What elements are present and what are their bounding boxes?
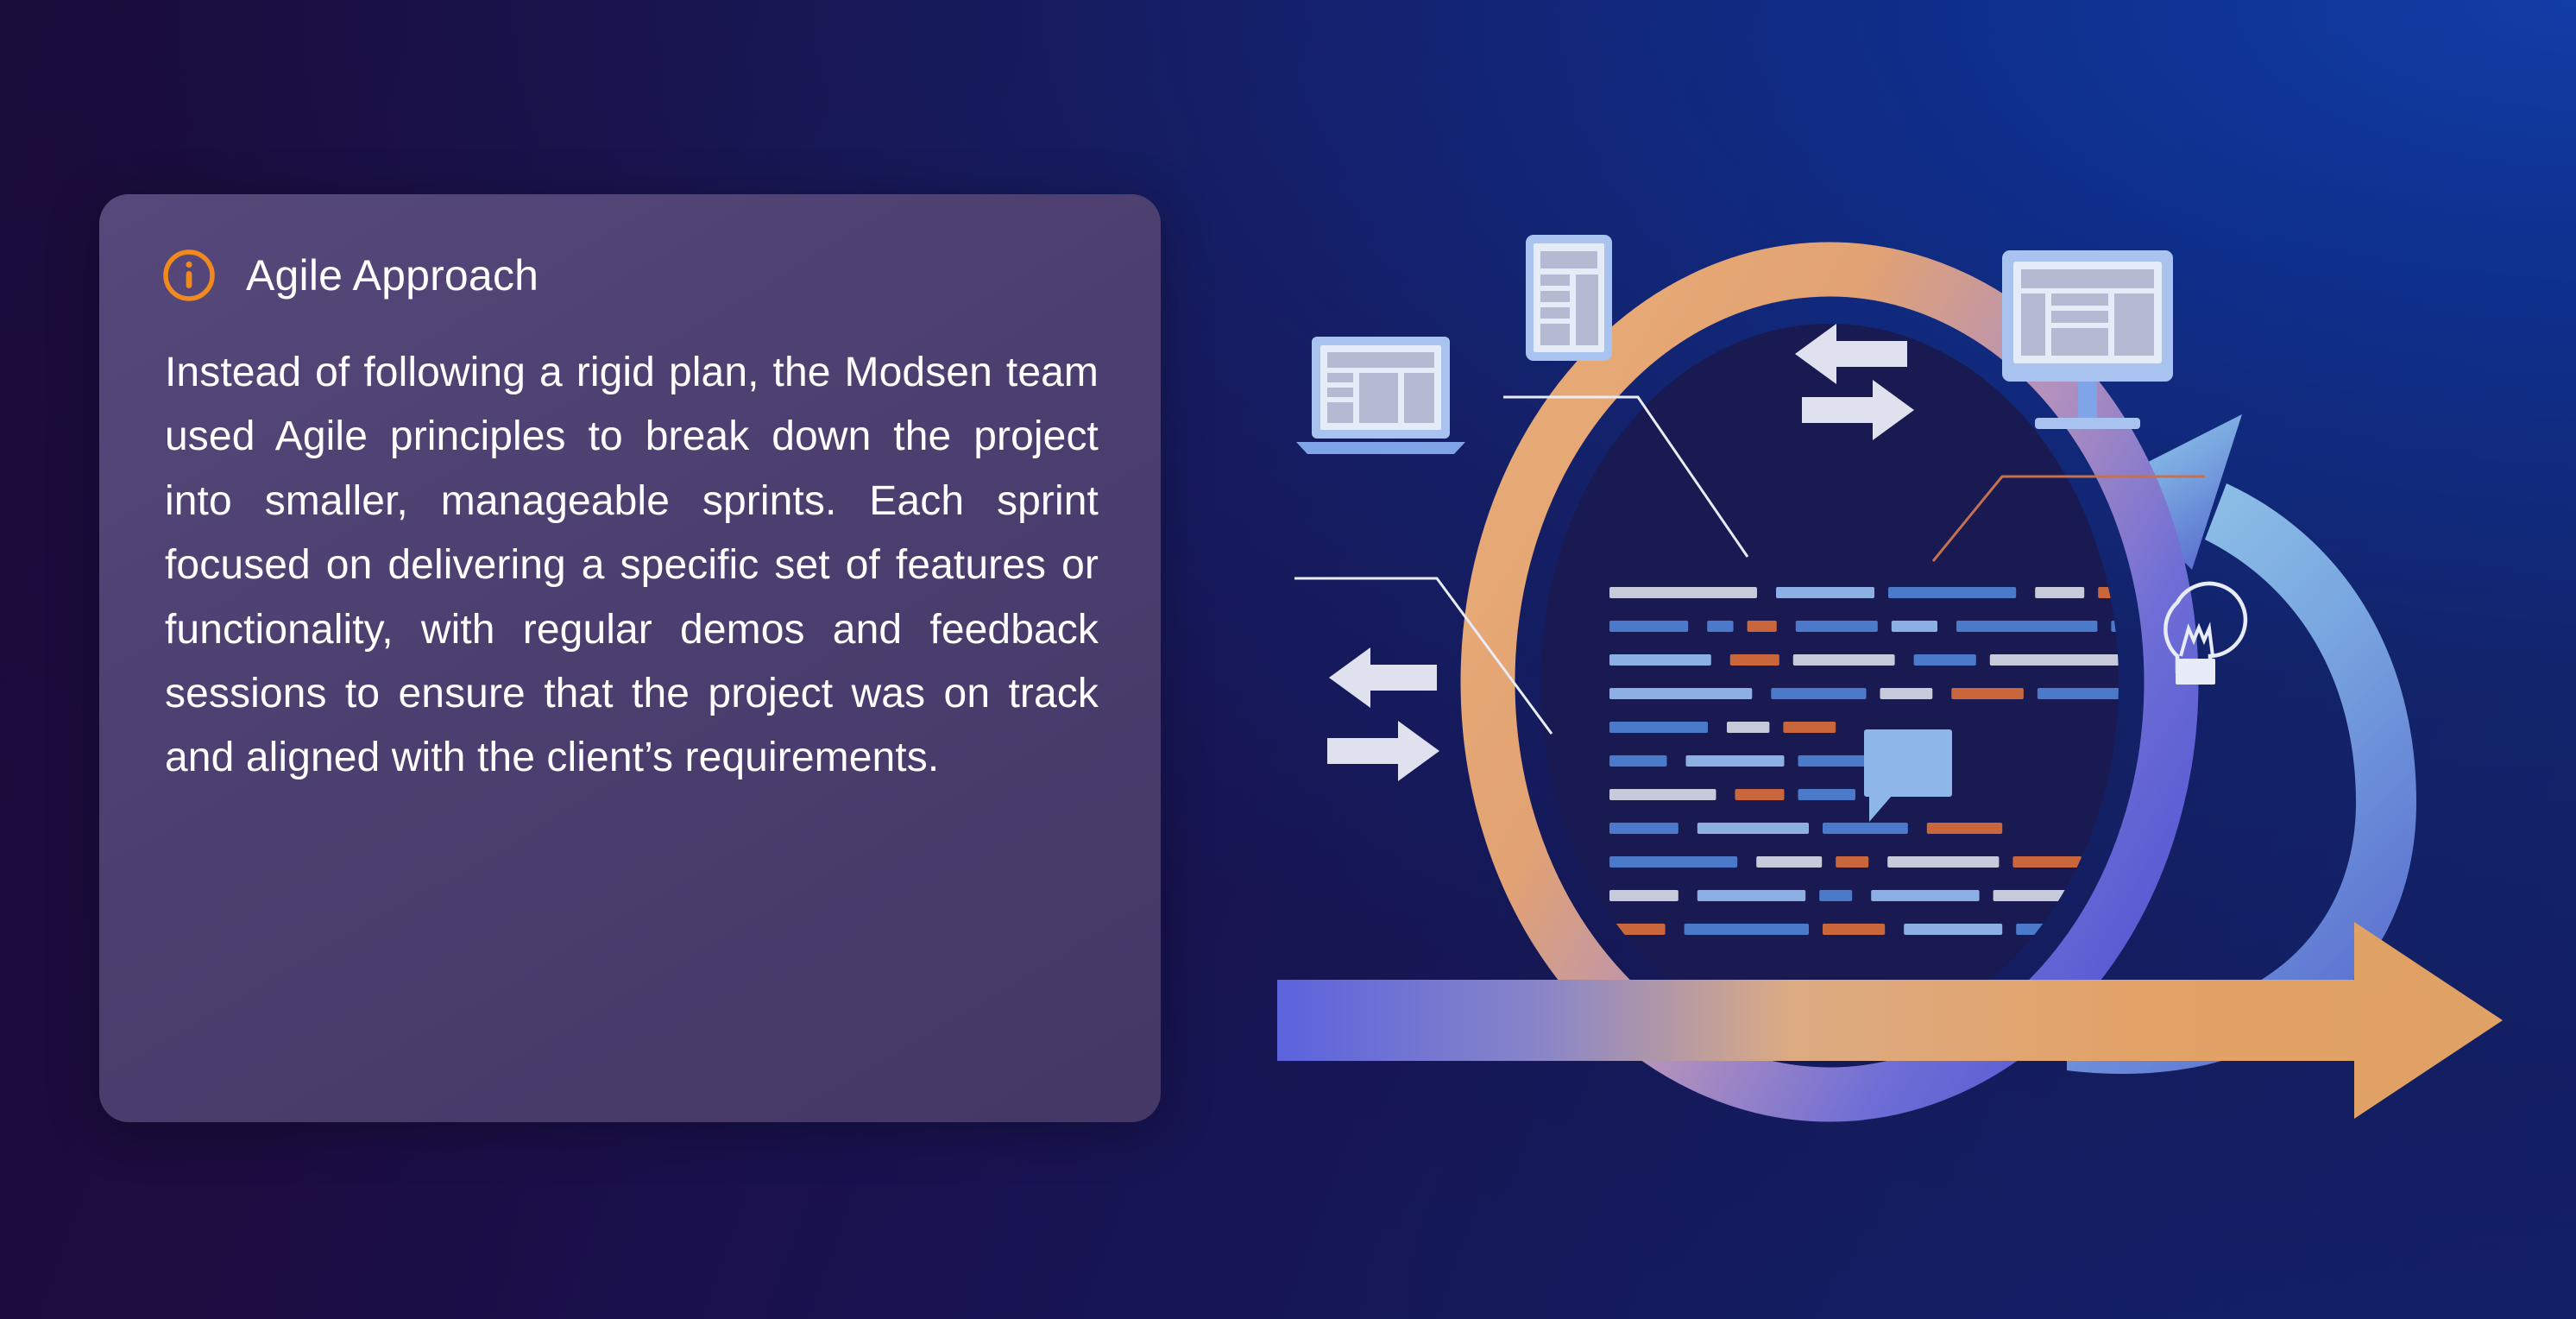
code-line-segment: [1990, 654, 2145, 666]
code-line-segment: [1796, 621, 1878, 632]
code-line-segment: [1776, 587, 1874, 598]
code-line-segment: [1798, 789, 1856, 800]
code-line-segment: [1727, 722, 1769, 733]
code-line-segment: [1823, 924, 1885, 935]
code-line-segment: [1888, 587, 2016, 598]
code-line-segment: [1609, 924, 1666, 935]
info-circle-icon: [161, 248, 217, 303]
code-line-segment: [1819, 890, 1852, 901]
code-line-segment: [1783, 722, 1836, 733]
code-line-segment: [1748, 621, 1777, 632]
code-line-segment: [1707, 621, 1733, 632]
laptop-device-icon: [1296, 337, 1465, 454]
code-line-segment: [1685, 924, 1809, 935]
tablet-device-icon: [1526, 235, 1612, 361]
code-line-segment: [1793, 654, 1895, 666]
code-line-segment: [1771, 688, 1866, 699]
code-line-segment: [1730, 654, 1779, 666]
exchange-arrows-left: [1327, 647, 1439, 781]
code-line-segment: [1609, 856, 1737, 868]
code-line-segment: [1836, 856, 1868, 868]
code-line-segment: [1697, 890, 1805, 901]
code-line-segment: [1609, 755, 1667, 767]
code-line-segment: [1914, 654, 1976, 666]
agile-iteration-illustration: [1277, 199, 2554, 1217]
code-line-segment: [2035, 587, 2084, 598]
code-line-segment: [1951, 688, 2024, 699]
slide-canvas: Agile Approach Instead of following a ri…: [0, 0, 2576, 1319]
code-line-segment: [1892, 621, 1937, 632]
code-line-segment: [1609, 823, 1678, 834]
code-line-segment: [1609, 688, 1752, 699]
code-line-segment: [1609, 587, 1757, 598]
code-line-segment: [1756, 856, 1822, 868]
agile-approach-card: Agile Approach Instead of following a ri…: [99, 194, 1161, 1122]
code-line-segment: [1686, 755, 1785, 767]
code-line-segment: [1823, 823, 1908, 834]
card-body-text: Instead of following a rigid plan, the M…: [161, 341, 1099, 791]
code-line-segment: [1609, 789, 1716, 800]
code-line-segment: [1609, 621, 1688, 632]
code-line-segment: [1609, 722, 1708, 733]
code-line-segment: [1927, 823, 2002, 834]
code-line-segment: [1871, 890, 1979, 901]
code-line-segment: [1697, 823, 1809, 834]
code-line-segment: [2012, 856, 2082, 868]
code-line-segment: [1735, 789, 1785, 800]
code-line-segment: [1609, 890, 1678, 901]
code-line-segment: [1956, 621, 2097, 632]
page-title: Agile Approach: [246, 254, 539, 297]
code-line-segment: [1904, 924, 2002, 935]
card-header: Agile Approach: [161, 248, 1099, 303]
desktop-monitor-icon: [2002, 250, 2173, 429]
code-line-segment: [1609, 654, 1711, 666]
code-line-segment: [1887, 856, 1999, 868]
code-line-segment: [1880, 688, 1933, 699]
